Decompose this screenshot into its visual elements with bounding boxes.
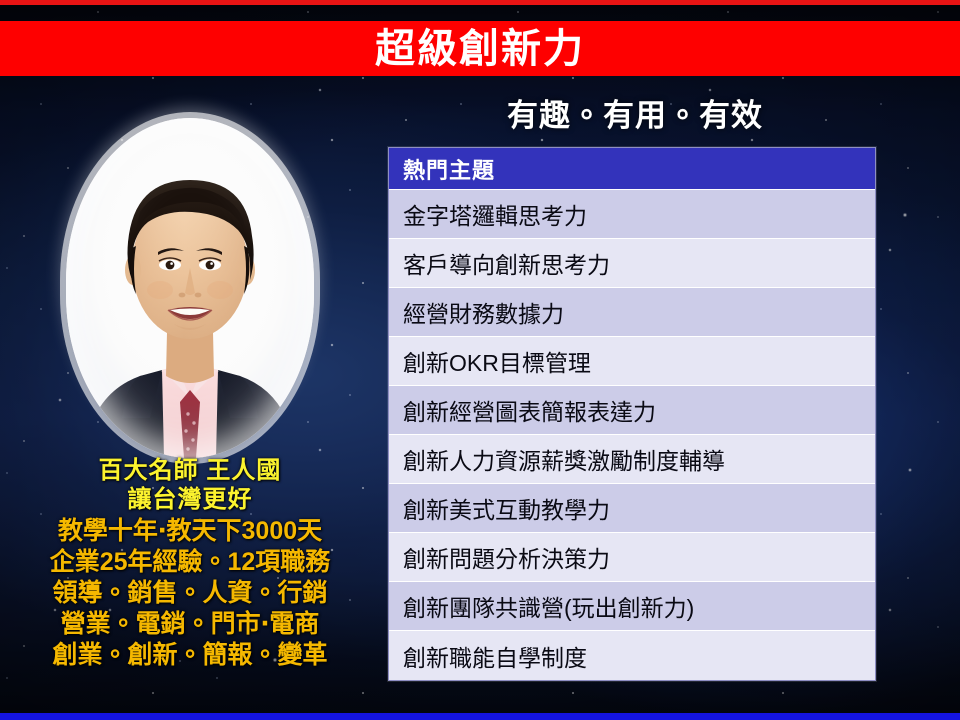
caption-line-5: 領導。銷售。人資。行銷 — [0, 579, 380, 607]
caption-line-4: 企業25年經驗。12項職務 — [0, 548, 380, 576]
caption-line-6: 營業。電銷。門市‧電商 — [0, 610, 380, 638]
subtitle-text: 有趣。有用。有效 — [390, 90, 880, 135]
portrait-illustration — [66, 118, 314, 458]
portrait-container — [66, 118, 314, 458]
caption-line-slogan: 讓台灣更好 — [0, 487, 380, 514]
caption-line-3: 教學十年‧教天下3000天 — [0, 517, 380, 545]
table-row[interactable]: 金字塔邏輯思考力 — [389, 190, 875, 239]
caption-line-name: 百大名師 王人國 — [0, 458, 380, 485]
hot-topics-table: 熱門主題 金字塔邏輯思考力 客戶導向創新思考力 經營財務數據力 創新OKR目標管… — [388, 147, 876, 681]
table-row[interactable]: 創新職能自學制度 — [389, 631, 875, 680]
table-header: 熱門主題 — [389, 148, 875, 190]
top-accent-line — [0, 0, 960, 5]
page-title: 超級創新力 — [375, 29, 585, 69]
table-row[interactable]: 創新OKR目標管理 — [389, 337, 875, 386]
table-row[interactable]: 創新問題分析決策力 — [389, 533, 875, 582]
table-row[interactable]: 創新經營圖表簡報表達力 — [389, 386, 875, 435]
avatar — [66, 118, 314, 458]
table-row[interactable]: 經營財務數據力 — [389, 288, 875, 337]
table-row[interactable]: 客戶導向創新思考力 — [389, 239, 875, 288]
title-banner: 超級創新力 — [0, 21, 960, 76]
table-row[interactable]: 創新人力資源薪獎激勵制度輔導 — [389, 435, 875, 484]
speaker-caption: 百大名師 王人國 讓台灣更好 教學十年‧教天下3000天 企業25年經驗。12項… — [0, 458, 380, 669]
bottom-accent-band — [0, 713, 960, 720]
presentation-slide: 超級創新力 有趣。有用。有效 — [0, 0, 960, 720]
caption-line-7: 創業。創新。簡報。變革 — [0, 641, 380, 669]
table-row[interactable]: 創新團隊共識營(玩出創新力) — [389, 582, 875, 631]
table-row[interactable]: 創新美式互動教學力 — [389, 484, 875, 533]
